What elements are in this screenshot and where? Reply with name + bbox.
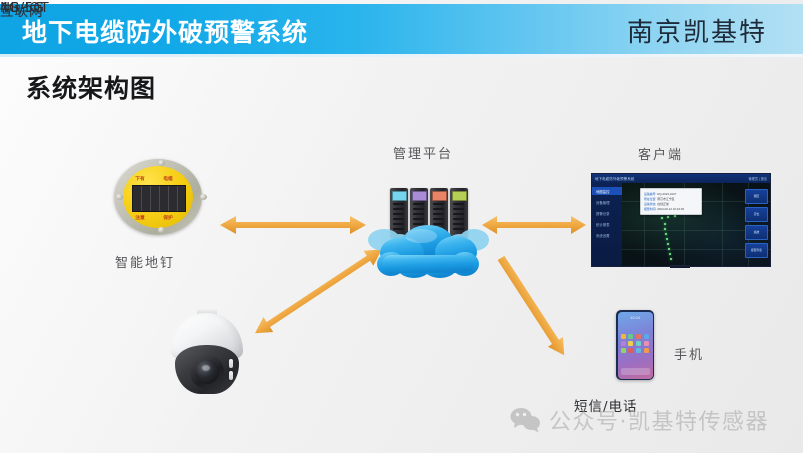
caption-management-platform: 管理平台	[393, 143, 453, 162]
phone-screen: 10:24	[618, 312, 653, 379]
header-banner: 地下电缆防外破预警系统 南京凯基特	[0, 4, 803, 54]
node-client-dashboard: 地下电缆防外破预警系统 管理员 | 退出 地图监控 设备管理 报警记录 统计报表…	[591, 173, 769, 269]
map-marker	[664, 223, 666, 225]
popup-value: 在线正常	[657, 202, 669, 206]
phone-status-time: 10:24	[618, 315, 653, 320]
map-marker	[661, 217, 663, 219]
bolt-icon	[158, 160, 165, 166]
app-icon	[636, 348, 641, 353]
map-button-locate[interactable]: 定位	[745, 207, 768, 222]
map-button-zoom[interactable]: 缩放	[745, 225, 768, 240]
map-marker	[665, 233, 667, 235]
map-button-layers[interactable]: 图层	[745, 189, 768, 204]
ground-nail-text-top-left: 下有	[135, 175, 145, 182]
ir-illuminator-icon	[229, 371, 233, 380]
watermark: 公众号·凯基特传感器	[510, 404, 769, 436]
popup-label: 报警时间:	[644, 207, 656, 211]
ground-nail-face: 下有 电缆 注意 保护	[123, 166, 193, 228]
camera-lens-icon	[195, 360, 219, 384]
node-management-platform	[368, 188, 490, 280]
map-marker	[667, 243, 669, 245]
lens-highlight	[202, 365, 210, 371]
server-screen	[452, 191, 467, 201]
map-button-alarm-list[interactable]: 报警列表	[745, 243, 768, 258]
app-icon	[636, 341, 641, 346]
map-marker	[666, 238, 668, 240]
camera-lens-ring	[190, 355, 224, 389]
arrow-cloud-to-client	[482, 216, 586, 234]
sidebar-item-system-settings[interactable]: 系统设置	[596, 233, 610, 238]
dashboard-screen: 地下电缆防外破预警系统 管理员 | 退出 地图监控 设备管理 报警记录 统计报表…	[591, 173, 771, 267]
dashboard-topbar-title: 地下电缆防外破预警系统	[595, 176, 635, 181]
ground-nail-text-top-right: 电缆	[163, 175, 173, 182]
phone-dock	[621, 368, 650, 375]
popup-label: 设备编号:	[644, 192, 656, 196]
bolt-icon	[116, 194, 123, 200]
app-icon	[644, 348, 649, 353]
ground-nail-text-bottom-right: 保护	[163, 214, 173, 221]
app-icon	[628, 341, 633, 346]
app-icon	[628, 348, 633, 353]
server-screen	[392, 191, 407, 201]
popup-label: 设备状态:	[644, 202, 656, 206]
map-marker	[669, 253, 671, 255]
section-title: 系统架构图	[26, 69, 156, 105]
ir-illuminator-icon	[229, 359, 233, 368]
map-marker	[667, 216, 669, 218]
app-icon	[621, 341, 626, 346]
camera-body	[175, 345, 239, 394]
bolt-icon	[158, 227, 165, 233]
server-screen	[412, 191, 427, 201]
watermark-text: 公众号·凯基特传感器	[549, 404, 769, 436]
banner-divider	[0, 54, 803, 57]
app-icon	[644, 341, 649, 346]
app-icon	[644, 334, 649, 339]
page-title: 地下电缆防外破预警系统	[22, 13, 308, 49]
map-marker	[668, 248, 670, 250]
popup-value: 南京市江宁区	[657, 197, 674, 201]
popup-value: 2024-06-12 10:24:03	[657, 207, 684, 211]
bolt-icon	[200, 194, 207, 200]
ground-nail-text-bottom-left: 注意	[135, 214, 145, 221]
sidebar-item-alarm-records[interactable]: 报警记录	[596, 211, 610, 216]
sidebar-item-map-monitor[interactable]: 地图监控	[592, 187, 622, 195]
phone-frame: 10:24	[616, 310, 654, 380]
sidebar-item-device-management[interactable]: 设备管理	[596, 200, 610, 205]
arrow-nail-to-cloud	[220, 216, 366, 234]
popup-value: DQ-2024-0137	[657, 192, 676, 196]
dashboard-user-menu[interactable]: 管理员 | 退出	[748, 176, 767, 181]
sidebar-item-statistics[interactable]: 统计报表	[596, 222, 610, 227]
popup-label: 所在位置:	[644, 197, 656, 201]
slide-canvas: 地下电缆防外破预警系统 南京凯基特 系统架构图 N	[0, 0, 803, 453]
arrow-camera-to-cloud	[250, 242, 387, 341]
cloud-icon	[376, 222, 482, 278]
monitor-stand	[670, 265, 690, 268]
node-mobile-phone: 10:24	[616, 310, 654, 380]
app-icon	[636, 334, 641, 339]
map-marker	[674, 215, 676, 217]
device-smart-ground-nail: 下有 电缆 注意 保护	[110, 159, 206, 237]
server-screen	[432, 191, 447, 201]
map-info-popup: 设备编号: DQ-2024-0137 所在位置: 南京市江宁区 设备状态: 在线…	[640, 188, 702, 215]
node-ptz-camera	[168, 308, 246, 400]
ground-nail-housing: 下有 电缆 注意 保护	[114, 159, 202, 235]
caption-smart-ground-nail: 智能地钉	[115, 252, 175, 271]
solar-panel-icon	[132, 185, 186, 212]
dashboard-sidebar: 地图监控 设备管理 报警记录 统计报表 系统设置	[592, 183, 622, 266]
wechat-icon	[510, 407, 540, 433]
app-icon	[621, 334, 626, 339]
arrow-cloud-to-phone	[493, 253, 571, 360]
arrow-label-4g5g-right: 4G/5G	[0, 0, 44, 16]
app-icon	[621, 348, 626, 353]
app-icon	[628, 334, 633, 339]
company-brand: 南京凯基特	[627, 12, 767, 49]
dashboard-topbar: 地下电缆防外破预警系统 管理员 | 退出	[592, 174, 770, 183]
phone-app-grid	[621, 334, 650, 353]
caption-client: 客户端	[638, 144, 683, 163]
map-marker	[670, 258, 672, 260]
caption-mobile-phone: 手机	[674, 344, 704, 363]
